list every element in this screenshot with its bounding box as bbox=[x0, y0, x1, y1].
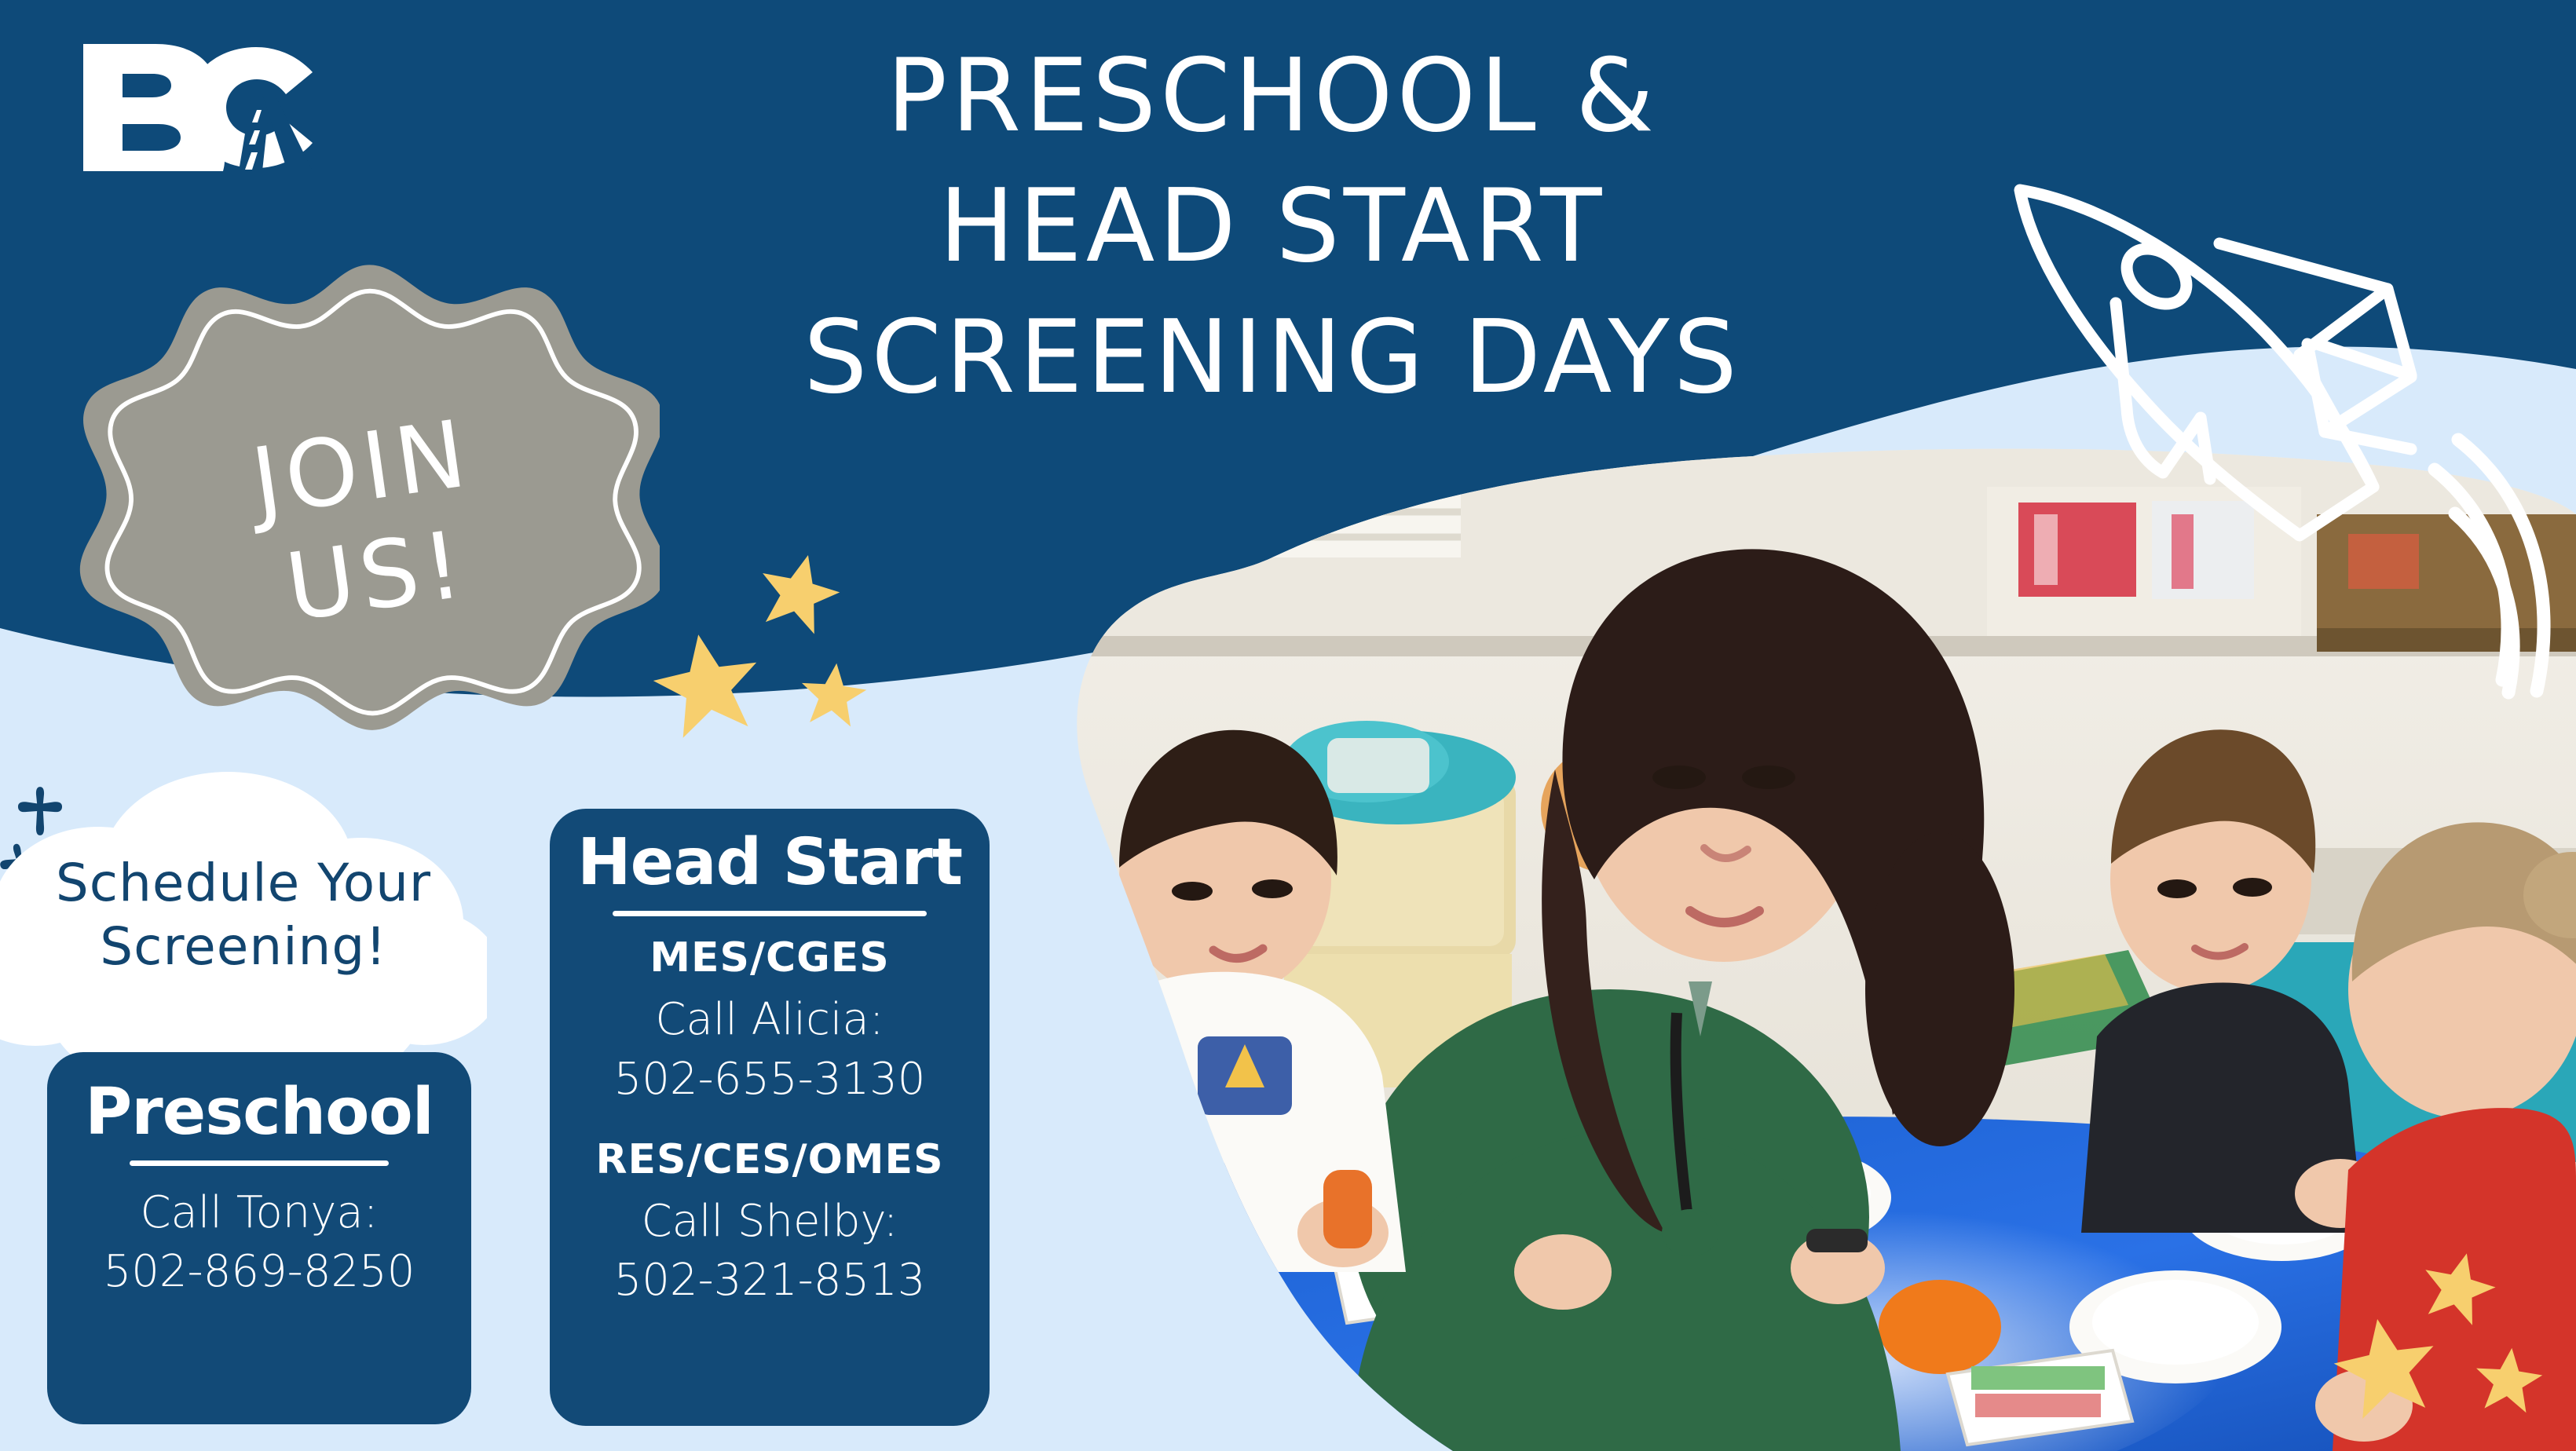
head-start-card-divider bbox=[613, 911, 927, 916]
poster-canvas: PRESCHOOL & HEAD START SCREENING DAYS bbox=[0, 0, 2576, 1451]
title-line-2: HEAD START bbox=[691, 162, 1853, 292]
title-line-3: SCREENING DAYS bbox=[691, 293, 1853, 423]
head-start-call-label-2: Call Shelby: bbox=[642, 1192, 898, 1251]
cloud-caption: Schedule Your Screening! bbox=[8, 852, 479, 978]
head-start-card-title: Head Start bbox=[577, 829, 962, 897]
star-icon bbox=[2331, 1313, 2441, 1423]
cloud-line-1: Schedule Your bbox=[8, 852, 479, 916]
head-start-schools-2: RES/CES/OMES bbox=[595, 1135, 943, 1184]
join-us-badge: JOIN US! bbox=[79, 251, 660, 793]
star-icon bbox=[650, 628, 764, 742]
rocket-icon bbox=[1987, 149, 2576, 840]
preschool-call-label: Call Tonya: bbox=[140, 1183, 378, 1242]
title-line-1: PRESCHOOL & bbox=[691, 31, 1853, 162]
head-start-schools-1: MES/CGES bbox=[649, 934, 890, 982]
star-icon bbox=[798, 660, 869, 730]
star-icon bbox=[2472, 1344, 2545, 1416]
preschool-card-divider bbox=[130, 1160, 389, 1166]
preschool-card-title: Preschool bbox=[85, 1079, 434, 1146]
bc-logo bbox=[77, 38, 336, 171]
preschool-phone-number[interactable]: 502-869-8250 bbox=[104, 1242, 415, 1301]
preschool-contact-card[interactable]: Preschool Call Tonya: 502-869-8250 bbox=[47, 1052, 471, 1424]
head-start-call-label-1: Call Alicia: bbox=[655, 990, 884, 1049]
head-start-contact-card[interactable]: Head Start MES/CGES Call Alicia: 502-655… bbox=[550, 809, 990, 1426]
star-icon bbox=[756, 550, 842, 636]
head-start-phone-number-1[interactable]: 502-655-3130 bbox=[614, 1050, 926, 1109]
page-title: PRESCHOOL & HEAD START SCREENING DAYS bbox=[691, 31, 1853, 423]
head-start-phone-number-2[interactable]: 502-321-8513 bbox=[614, 1251, 926, 1310]
cloud-line-2: Screening! bbox=[8, 916, 479, 979]
